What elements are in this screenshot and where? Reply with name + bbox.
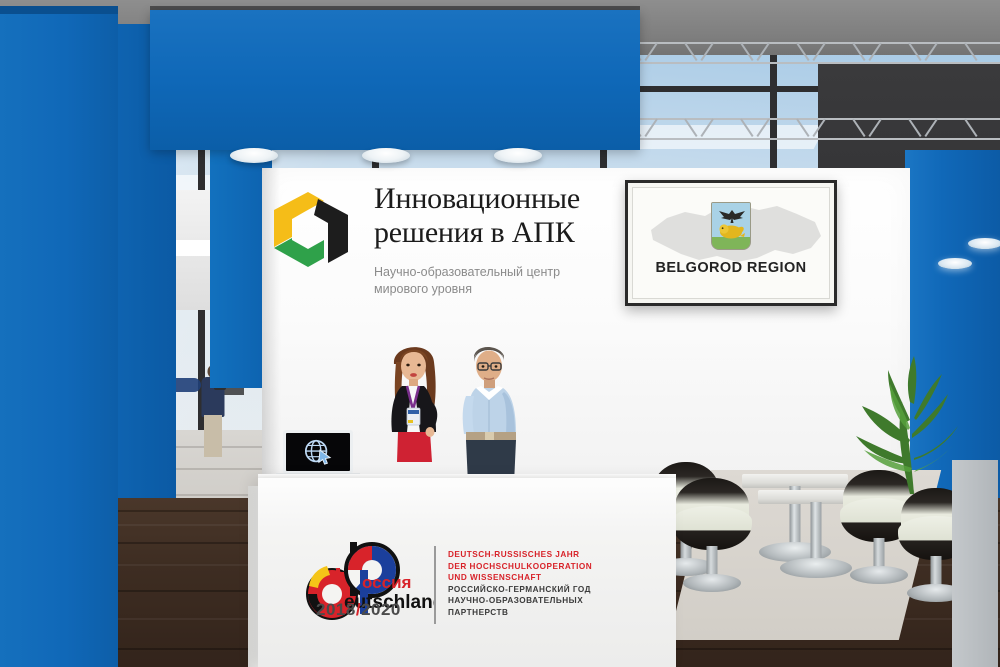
- booth-staff-man: [452, 338, 532, 484]
- banner-subtitle-line2: мирового уровня: [374, 281, 560, 298]
- globe-cursor-icon: [298, 437, 338, 467]
- booth-render-scene: Инновационные решения в АПК Научно-образ…: [0, 0, 1000, 667]
- ceiling-light: [968, 238, 1000, 249]
- belgorod-coat-of-arms: [711, 202, 751, 250]
- laptop-screen-content: [286, 433, 350, 471]
- chair-base: [683, 574, 741, 592]
- booth-header-banner: [150, 10, 640, 150]
- caption-ru-line1: РОССИЙСКО-ГЕРМАНСКИЙ ГОД: [448, 584, 592, 596]
- banner-title: Инновационные решения в АПК: [374, 182, 580, 250]
- logo-year-end: 2020: [361, 600, 401, 619]
- spotlight: [230, 148, 278, 163]
- banner-subtitle-line1: Научно-образовательный центр: [374, 264, 560, 281]
- booth-staff-woman: [374, 336, 452, 486]
- lighting-truss: [600, 118, 1000, 140]
- laptop-display[interactable]: [283, 430, 353, 474]
- booth-pillar-left: [0, 14, 118, 667]
- booth-side-panel: [952, 460, 998, 667]
- counter-text-divider: [434, 546, 436, 624]
- belgorod-panel-inner: BELGOROD REGION: [632, 187, 830, 299]
- table-stem: [811, 502, 822, 564]
- hexagon-logo: [268, 190, 354, 268]
- banner-title-line2: решения в АПК: [374, 216, 580, 250]
- caption-de-line1: DEUTSCH-RUSSISCHES JAHR: [448, 549, 592, 561]
- caption-de-line2: DER HOCHSCHULKOOPERATION: [448, 561, 592, 573]
- logo-year-start: 2018: [316, 600, 356, 619]
- caption-de-line3: UND WISSENSCHAFT: [448, 572, 592, 584]
- logo-years: 2018/2020: [316, 600, 401, 620]
- chair-seat: [672, 506, 752, 550]
- lighting-truss: [600, 42, 1000, 64]
- caption-ru-line2: НАУЧНО-ОБРАЗОВАТЕЛЬНЫХ: [448, 595, 592, 607]
- belgorod-region-panel[interactable]: BELGOROD REGION: [625, 180, 837, 306]
- belgorod-label: BELGOROD REGION: [633, 260, 829, 276]
- logo-yellow-shape: [274, 192, 324, 247]
- ceiling-light: [938, 258, 972, 269]
- banner-subtitle: Научно-образовательный центр мирового ур…: [374, 264, 560, 298]
- counter-caption: DEUTSCH-RUSSISCHES JAHR DER HOCHSCHULKOO…: [448, 549, 592, 619]
- spotlight: [362, 148, 410, 163]
- logo-word-russia: оссия: [362, 573, 411, 592]
- lounge-chair[interactable]: [672, 478, 752, 602]
- banner-title-line1: Инновационные: [374, 182, 580, 216]
- caption-ru-line3: ПАРТНЕРСТВ: [448, 607, 592, 619]
- spotlight: [494, 148, 542, 163]
